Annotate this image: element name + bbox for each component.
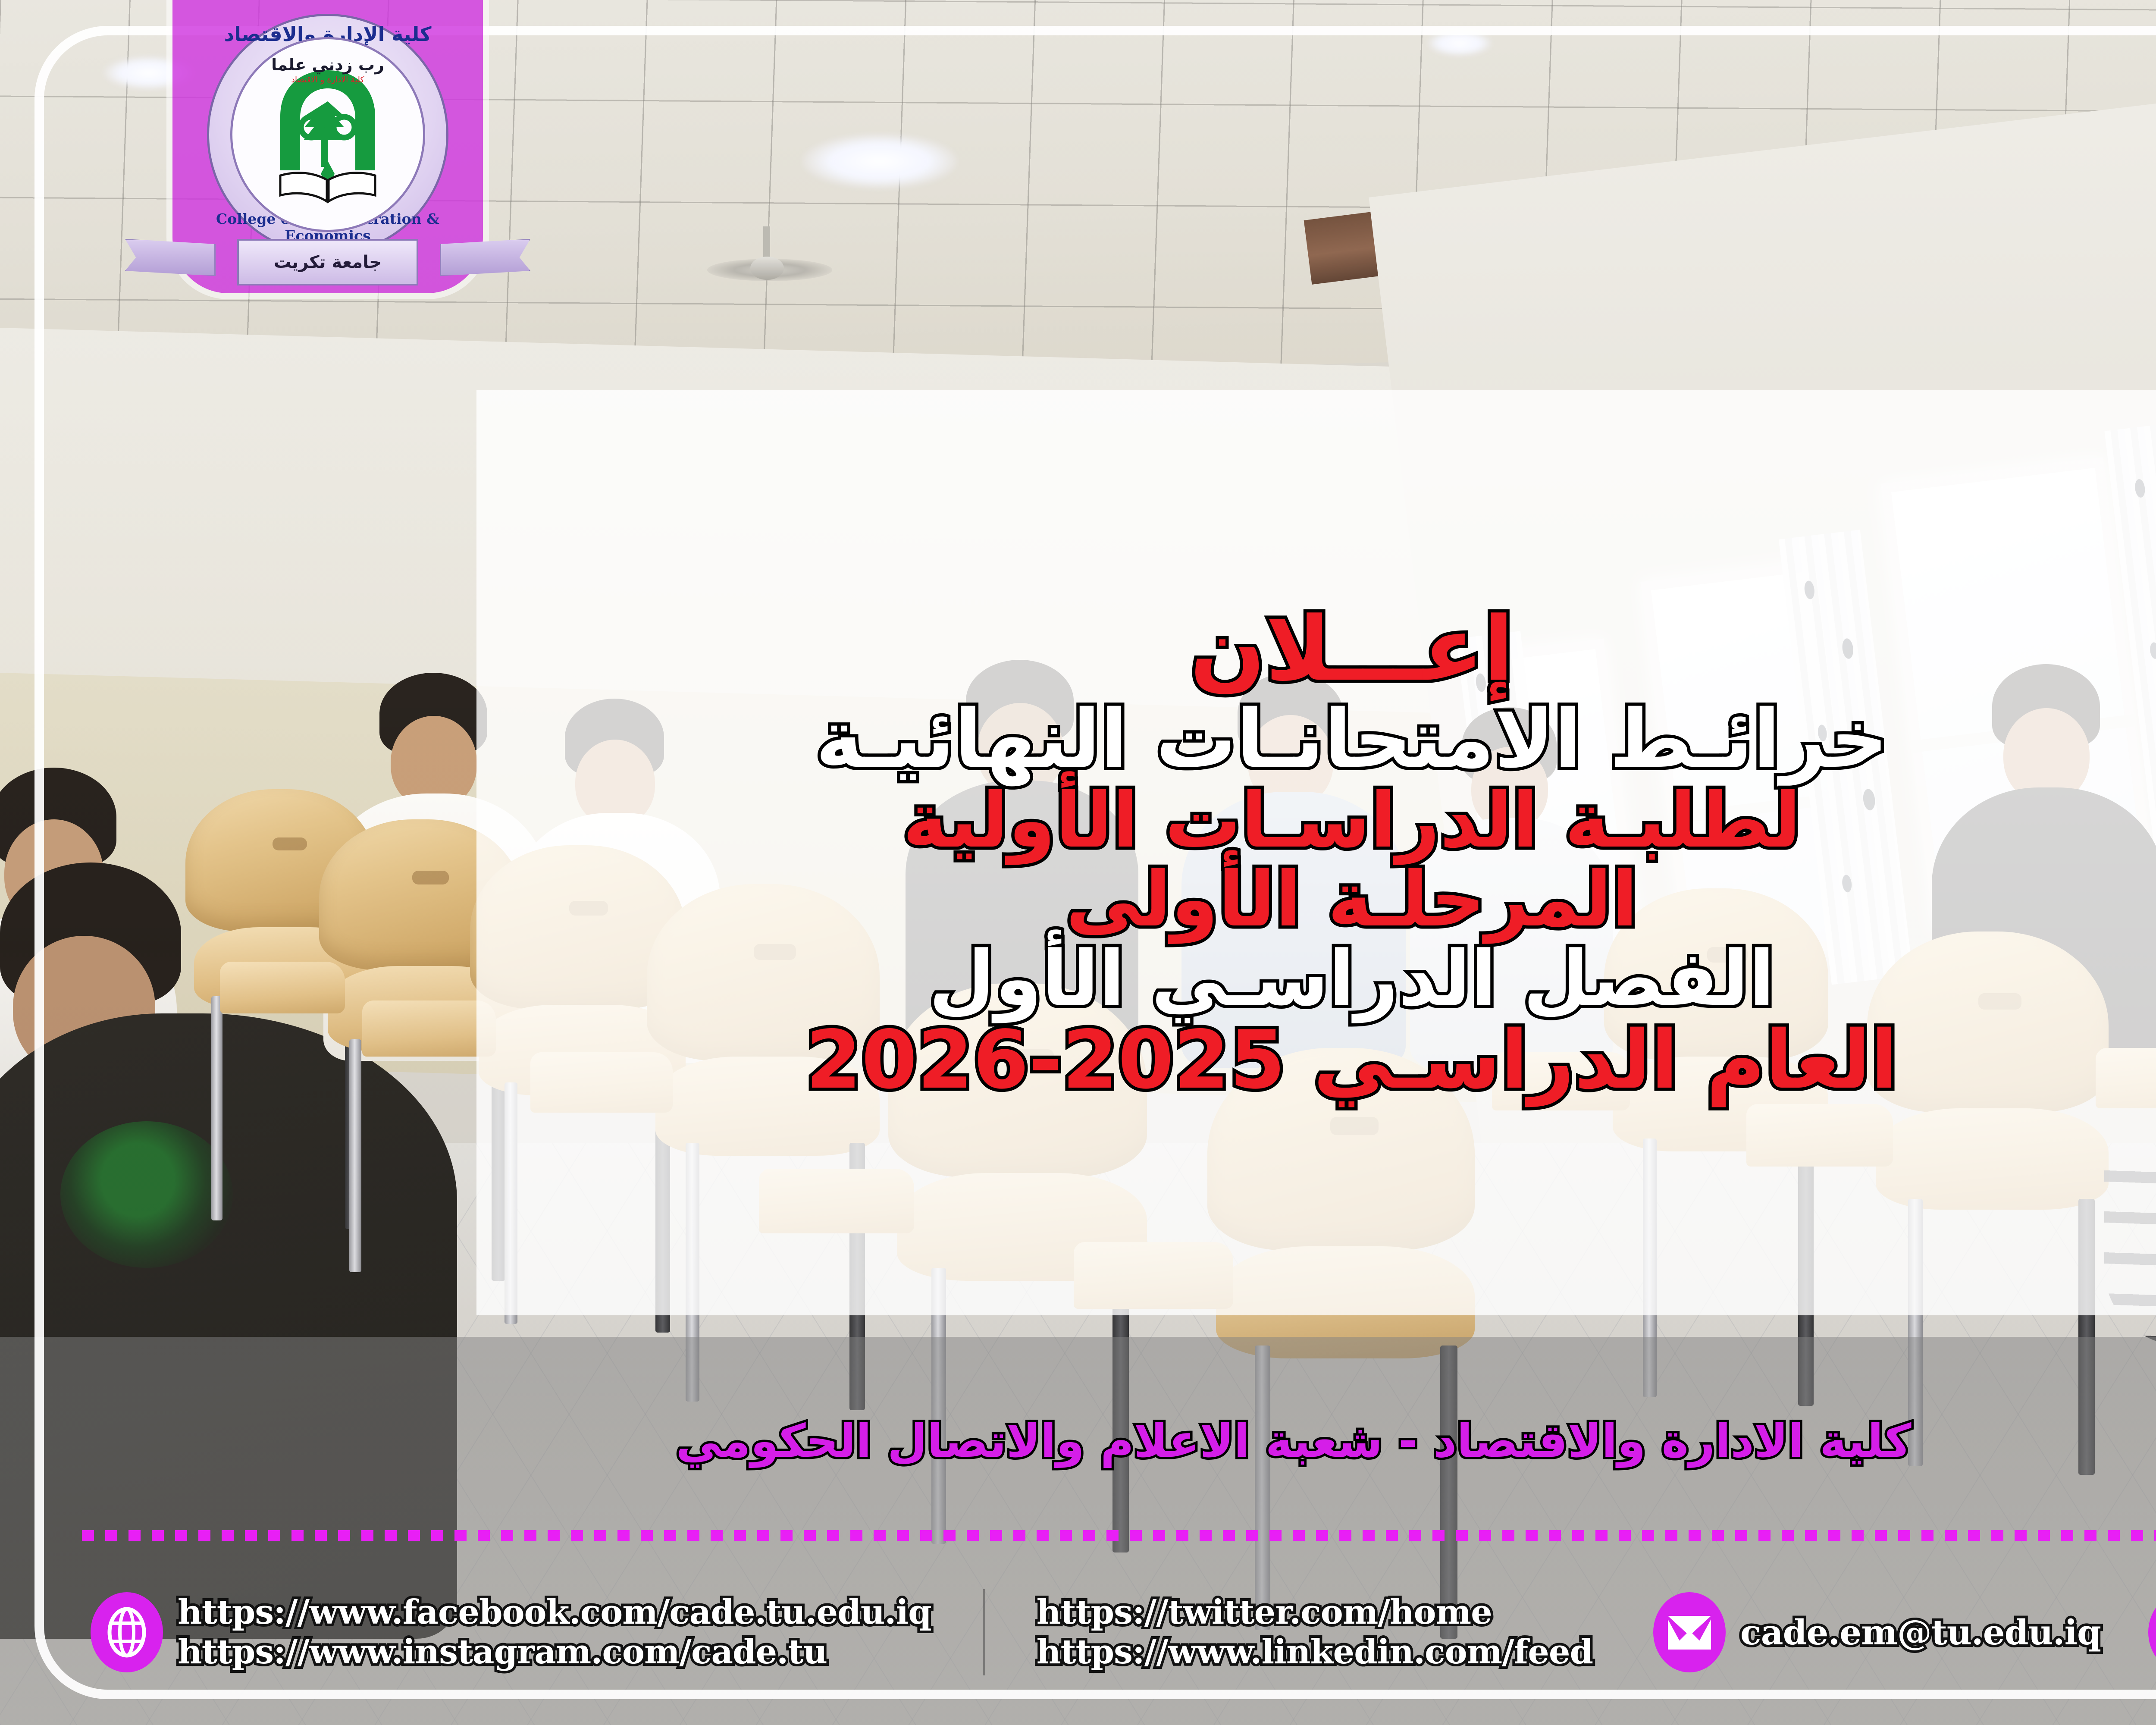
contact-group-social[interactable]: https://twitter.com/home https://www.lin… xyxy=(1037,1596,1593,1669)
email-address[interactable]: cade.em@tu.edu.iq xyxy=(1740,1615,2101,1650)
envelope-icon[interactable] xyxy=(1653,1592,1726,1672)
headline-line-3: لطلبـة الدراسـات الأولية xyxy=(903,782,1801,859)
ribbon-wing-right xyxy=(440,239,530,276)
contact-group-email[interactable]: cade.em@tu.edu.iq xyxy=(1653,1592,2101,1672)
seal-emblem-icon: كلية الادارة و الاقتصاد xyxy=(263,63,392,207)
headline-line-4: المرحلـة الأولى xyxy=(1066,861,1638,938)
university-logo-badge: كلية الإدارة والاقتصاد College of Admini… xyxy=(172,0,483,293)
linkedin-url[interactable]: https://www.linkedin.com/feed xyxy=(1037,1635,1593,1669)
announcement-poster: كلية الإدارة والاقتصاد College of Admini… xyxy=(0,0,2156,1725)
contact-bar: https://www.facebook.com/cade.tu.edu.iq … xyxy=(91,1565,2156,1699)
facebook-url[interactable]: https://www.facebook.com/cade.tu.edu.iq xyxy=(178,1596,931,1629)
contact-group-phone[interactable]: 07718055128 xyxy=(2148,1592,2156,1672)
college-seal: كلية الإدارة والاقتصاد College of Admini… xyxy=(207,14,448,255)
seal-motto: رب زدني علما xyxy=(207,55,448,74)
headline-line-6: العام الدراسـي 2025-2026 xyxy=(805,1019,1898,1101)
department-line: كلية الادارة والاقتصاد - شعبة الاعلام وا… xyxy=(0,1414,2156,1468)
contact-group-web[interactable]: https://www.facebook.com/cade.tu.edu.iq … xyxy=(91,1592,931,1672)
headline-line-1: إعـــلان xyxy=(1190,605,1514,695)
twitter-url[interactable]: https://twitter.com/home xyxy=(1037,1596,1593,1629)
svg-text:كلية الادارة و الاقتصاد: كلية الادارة و الاقتصاد xyxy=(291,75,364,85)
phone-icon[interactable] xyxy=(2148,1592,2156,1672)
seal-ribbon-label: جامعة تكريت xyxy=(237,239,418,285)
headline-group: إعـــلان خرائـط الامتحانـات النهائيـة لط… xyxy=(476,390,2156,1315)
globe-icon[interactable] xyxy=(91,1592,163,1672)
ribbon-wing-left xyxy=(125,239,216,276)
headline-line-5: الفصل الدراسـي الأول xyxy=(929,940,1775,1018)
instagram-url[interactable]: https://www.instagram.com/cade.tu xyxy=(178,1635,931,1669)
headline-line-2: خرائـط الامتحانـات النهائيـة xyxy=(815,698,1888,780)
divider-rule xyxy=(983,1589,985,1675)
dashed-divider xyxy=(82,1530,2156,1541)
